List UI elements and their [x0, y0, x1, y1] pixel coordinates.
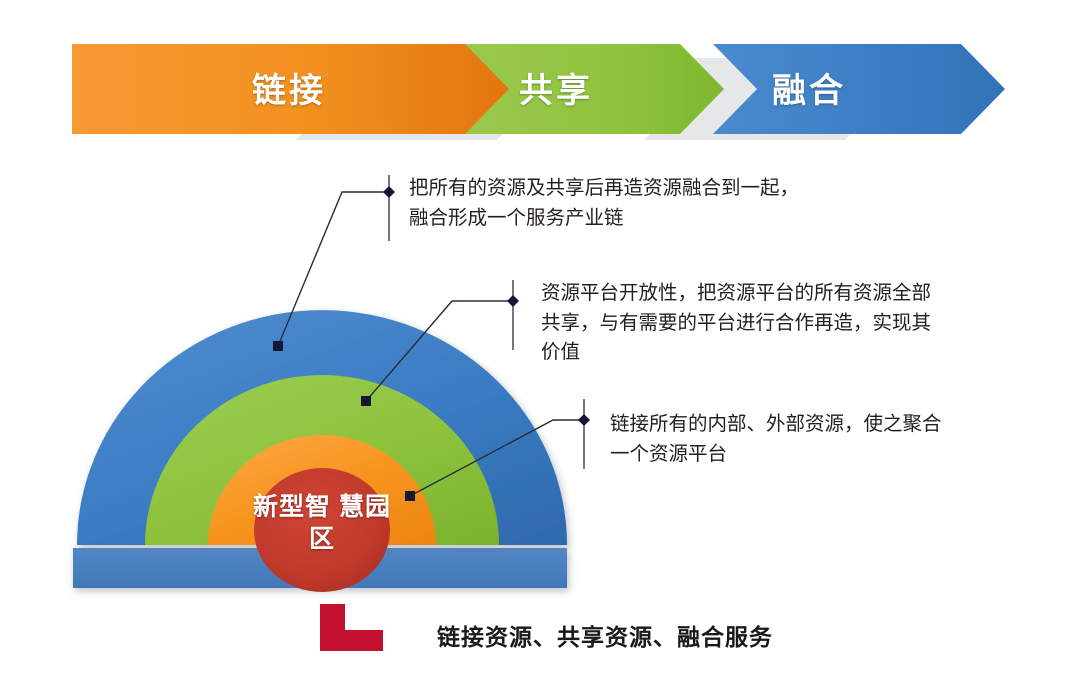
leader-marker-inner: [405, 491, 415, 501]
leader-diamond-inner: [578, 414, 590, 426]
leader-marker-middle: [361, 396, 371, 406]
core-ellipse[interactable]: [254, 468, 390, 592]
leader-marker-outer: [273, 341, 283, 351]
annotation-inner: 链接所有的内部、外部资源，使之聚合 一个资源平台: [610, 410, 1040, 469]
slide-canvas: 链接 共享 融合: [0, 0, 1080, 684]
footer-caption: 链接资源、共享资源、融合服务: [437, 618, 773, 652]
annotation-middle: 资源平台开放性，把资源平台的所有资源全部 共享，与有需要的平台进行合作再造，实现…: [541, 279, 1041, 368]
leader-diamond-middle: [507, 295, 519, 307]
leader-diamond-outer: [383, 186, 395, 198]
logo-mark: [320, 604, 383, 651]
annotation-outer: 把所有的资源及共享后再造资源融合到一起， 融合形成一个服务产业链: [409, 174, 929, 233]
